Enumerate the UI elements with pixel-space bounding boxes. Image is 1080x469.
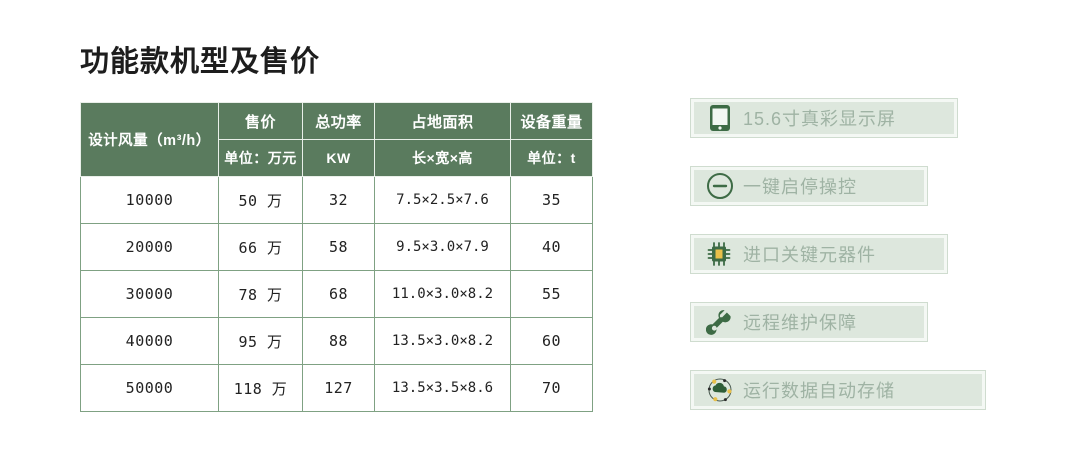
feature-label: 进口关键元器件 [743, 241, 876, 267]
table-row: 10000 50 万 32 7.5×2.5×7.6 35 [81, 177, 593, 224]
header-unit-footprint: 长×宽×高 [375, 140, 511, 177]
cell-price: 78 万 [219, 271, 303, 318]
table-row: 40000 95 万 88 13.5×3.0×8.2 60 [81, 318, 593, 365]
cell-airflow: 20000 [81, 224, 219, 271]
feature-label: 远程维护保障 [743, 309, 857, 335]
header-unit-price: 单位：万元 [219, 140, 303, 177]
cell-power: 58 [303, 224, 375, 271]
cell-airflow: 50000 [81, 365, 219, 412]
cell-footprint: 9.5×3.0×7.9 [375, 224, 511, 271]
table-row: 30000 78 万 68 11.0×3.0×8.2 55 [81, 271, 593, 318]
cell-footprint: 7.5×2.5×7.6 [375, 177, 511, 224]
page-title: 功能款机型及售价 [80, 38, 320, 80]
feature-item-display[interactable]: 15.6寸真彩显示屏 [690, 98, 958, 138]
cell-price: 50 万 [219, 177, 303, 224]
feature-label: 一键启停操控 [743, 173, 857, 199]
microchip-icon [705, 239, 735, 269]
cell-weight: 70 [511, 365, 593, 412]
header-price: 售价 [219, 103, 303, 140]
header-unit-power: KW [303, 140, 375, 177]
cell-power: 127 [303, 365, 375, 412]
cell-power: 32 [303, 177, 375, 224]
cell-weight: 55 [511, 271, 593, 318]
header-power: 总功率 [303, 103, 375, 140]
cell-power: 68 [303, 271, 375, 318]
cell-price: 118 万 [219, 365, 303, 412]
cell-price: 66 万 [219, 224, 303, 271]
header-footprint: 占地面积 [375, 103, 511, 140]
table-row: 50000 118 万 127 13.5×3.5×8.6 70 [81, 365, 593, 412]
feature-label: 运行数据自动存储 [743, 377, 895, 403]
data-cloud-network-icon [705, 375, 735, 405]
feature-label: 15.6寸真彩显示屏 [743, 105, 896, 131]
cell-airflow: 10000 [81, 177, 219, 224]
header-unit-weight: 单位：t [511, 140, 593, 177]
cell-power: 88 [303, 318, 375, 365]
feature-item-one-key-start-stop[interactable]: 一键启停操控 [690, 166, 928, 206]
wrench-icon [705, 307, 735, 337]
cell-footprint: 11.0×3.0×8.2 [375, 271, 511, 318]
cell-airflow: 30000 [81, 271, 219, 318]
tablet-display-icon [705, 103, 735, 133]
cell-weight: 60 [511, 318, 593, 365]
spec-table: 设计风量（m³/h） 售价 总功率 占地面积 设备重量 单位：万元 KW 长×宽… [80, 102, 593, 412]
cell-footprint: 13.5×3.5×8.6 [375, 365, 511, 412]
cell-footprint: 13.5×3.0×8.2 [375, 318, 511, 365]
circle-minus-icon [705, 171, 735, 201]
table-header-row-group: 设计风量（m³/h） 售价 总功率 占地面积 设备重量 [81, 103, 593, 140]
feature-item-imported-components[interactable]: 进口关键元器件 [690, 234, 948, 274]
feature-item-remote-maintenance[interactable]: 远程维护保障 [690, 302, 928, 342]
cell-airflow: 40000 [81, 318, 219, 365]
cell-weight: 40 [511, 224, 593, 271]
header-airflow-label: 设计风量（m³/h） [88, 133, 211, 149]
header-weight: 设备重量 [511, 103, 593, 140]
cell-weight: 35 [511, 177, 593, 224]
header-airflow: 设计风量（m³/h） [81, 103, 219, 177]
feature-item-auto-data-storage[interactable]: 运行数据自动存储 [690, 370, 986, 410]
cell-price: 95 万 [219, 318, 303, 365]
table-row: 20000 66 万 58 9.5×3.0×7.9 40 [81, 224, 593, 271]
feature-list: 15.6寸真彩显示屏 一键启停操控 [690, 98, 1010, 438]
